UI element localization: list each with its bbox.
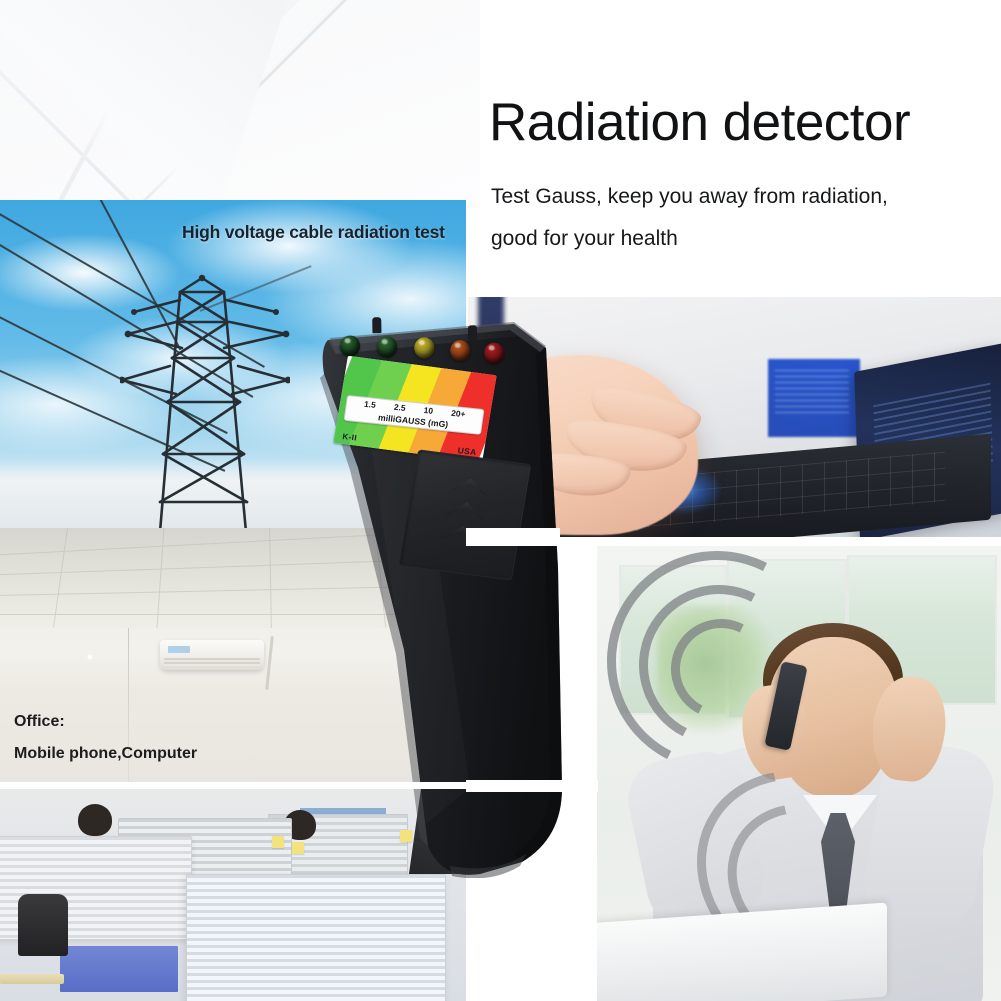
ac-brand-sticker <box>168 646 190 653</box>
geometric-background-decoration <box>0 0 480 210</box>
panel-gap-left-right-edge <box>466 200 469 290</box>
ceiling-panel-area <box>0 528 466 628</box>
air-conditioner-unit <box>160 640 264 670</box>
blue-display-box <box>768 359 860 437</box>
office-caption-line1: Office: <box>14 706 197 738</box>
office-caption-block: Office: Mobile phone,Computer <box>14 706 197 770</box>
high-voltage-caption: High voltage cable radiation test <box>182 222 445 243</box>
page-title: Radiation detector <box>489 92 910 153</box>
cubicle-blue-panel <box>60 946 178 992</box>
panel-gap-right-middle <box>560 537 1001 546</box>
cubicle-partition-front <box>186 874 446 1001</box>
product-marketing-image: High voltage cable radiation test Office… <box>0 0 1001 1001</box>
blurred-person-tie <box>478 297 504 359</box>
transmission-tower-icon <box>120 256 290 530</box>
ac-vent-louvers <box>164 658 260 666</box>
sticky-note <box>400 830 412 842</box>
panel-stressed-man-photo <box>597 545 1001 1001</box>
office-caption-line2: Mobile phone,Computer <box>14 738 197 770</box>
panel-gap-top-right <box>468 286 1001 297</box>
worker-head <box>78 804 112 836</box>
background-triangle-shape <box>0 0 320 150</box>
sticky-note <box>292 842 304 854</box>
desk-surface <box>0 974 64 984</box>
panel-gap-left-lower <box>466 528 560 546</box>
subtitle-line-1: Test Gauss, keep you away from radiation… <box>491 176 991 218</box>
panel-gap-bottom-left <box>0 782 466 789</box>
panel-office-cubicles-photo <box>0 788 466 1001</box>
page-subtitle: Test Gauss, keep you away from radiation… <box>491 176 991 260</box>
subtitle-line-2: good for your health <box>491 218 991 260</box>
ac-indicator-light <box>88 655 92 659</box>
panel-laptop-typing-photo <box>468 297 1001 537</box>
panel-high-voltage-photo <box>0 200 466 530</box>
panel-gap-far-right <box>466 780 598 792</box>
sticky-note <box>272 836 284 848</box>
ceiling-grid-lines <box>0 528 466 628</box>
office-chair <box>18 894 68 956</box>
